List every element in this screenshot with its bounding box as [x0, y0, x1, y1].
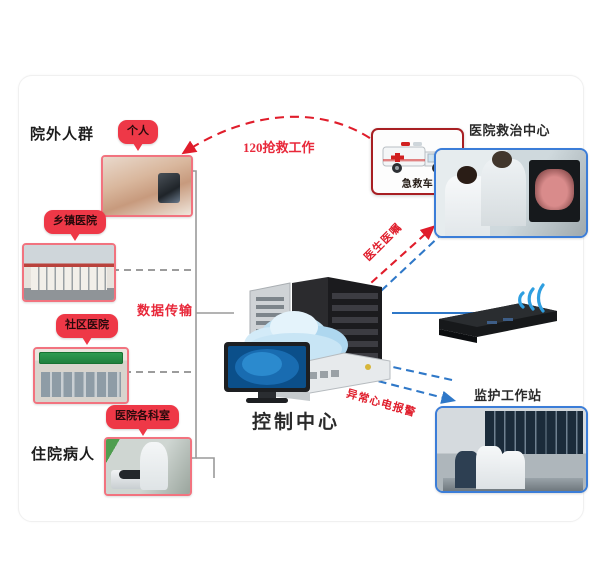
- badge-individual-label: 个人: [118, 120, 158, 144]
- photo-hospital-treatment-center[interactable]: [434, 148, 588, 238]
- badge-individual[interactable]: 个人: [118, 120, 158, 144]
- diagram-canvas: 院外人群 个人 乡镇医院 社区医院 医院各科室 住院病人 120抢救工作 数据传…: [0, 0, 600, 564]
- group-label-inpatient: 住院病人: [31, 443, 95, 464]
- badge-community-clinic-label: 社区医院: [56, 314, 118, 338]
- label-data-transfer: 数据传输: [137, 300, 193, 319]
- badge-hospital-departments-label: 医院各科室: [106, 405, 179, 429]
- badge-township-hospital[interactable]: 乡镇医院: [44, 210, 106, 234]
- badge-hospital-departments[interactable]: 医院各科室: [106, 405, 179, 429]
- badge-township-hospital-label: 乡镇医院: [44, 210, 106, 234]
- monitor-icon: [222, 340, 314, 404]
- photo-community-clinic[interactable]: [33, 347, 129, 404]
- badge-community-clinic[interactable]: 社区医院: [56, 314, 118, 338]
- photo-hospital-ward[interactable]: [104, 437, 192, 496]
- photo-individual[interactable]: [101, 155, 193, 217]
- label-emergency-flow: 120抢救工作: [243, 137, 315, 156]
- photo-township-hospital[interactable]: [22, 243, 116, 302]
- label-monitoring-workstation: 监护工作站: [474, 385, 542, 404]
- control-center-caption: 控制中心: [252, 407, 340, 434]
- bracket-corner-ward: [196, 458, 214, 478]
- group-label-outpatient: 院外人群: [30, 123, 94, 144]
- label-hospital-treatment-center: 医院救治中心: [469, 120, 550, 139]
- wireless-router-icon: [437, 285, 563, 341]
- photo-monitoring-workstation[interactable]: [435, 406, 588, 493]
